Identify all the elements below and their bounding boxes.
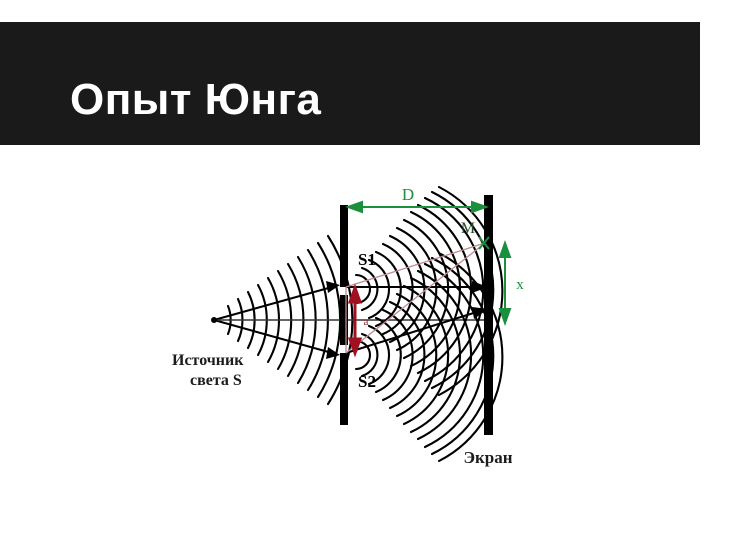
slit1-wavefronts [356,187,502,395]
observation-screen [484,195,493,435]
slit-separation-label: a [364,316,369,328]
distance-d-arrow [348,202,486,212]
fringe-x-label: x [516,277,524,293]
screen-label: Экран [463,448,512,467]
source-rays [214,287,484,353]
slit2-label: S2 [358,372,376,391]
source-label-line1: Источник [172,352,244,369]
young-experiment-diagram: D x a M S1 S2 Ист [150,175,570,485]
page-title: Опыт Юнга [70,78,321,122]
distance-d-label: D [402,185,414,204]
slide-canvas: Опыт Юнга [0,0,736,552]
slit-barrier [340,205,348,425]
point-source-marker [211,317,217,323]
slit1-label: S1 [358,250,376,269]
source-label-line2: света S [190,372,242,389]
point-m-label: M [461,220,475,237]
